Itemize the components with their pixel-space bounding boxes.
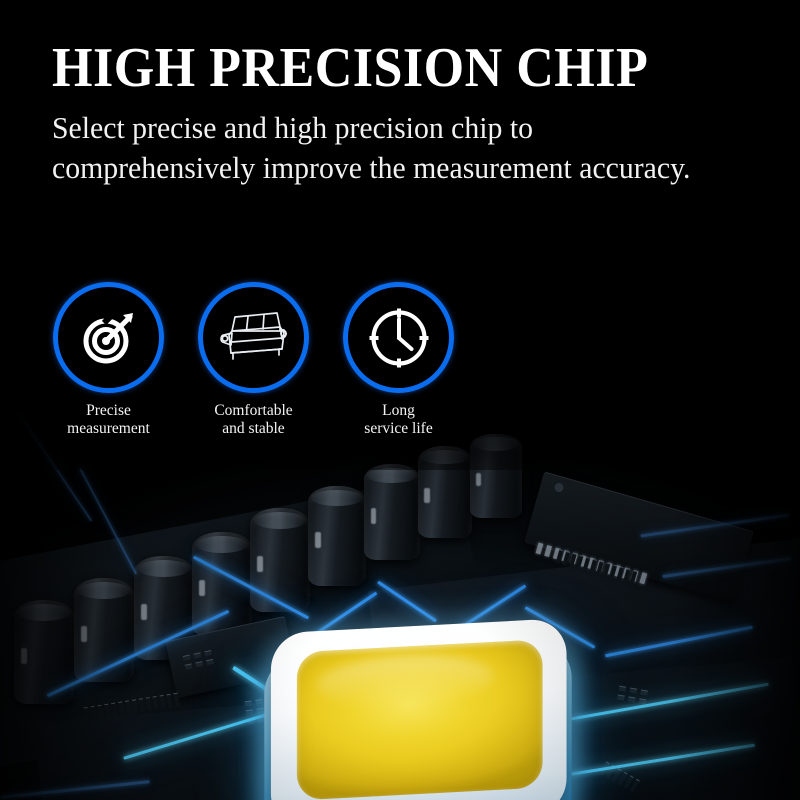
capacitor — [364, 464, 420, 560]
feature-item-long-service-life[interactable]: Long service life — [343, 282, 454, 439]
target-bullseye-icon — [78, 307, 140, 369]
clock-icon — [366, 305, 432, 371]
chip-gold-die — [297, 639, 543, 800]
page-title: HIGH PRECISION CHIP — [52, 40, 648, 96]
golden-chip — [251, 610, 584, 800]
feature-list: Precise measurement — [53, 282, 454, 439]
feature-icon-ring[interactable] — [53, 282, 164, 393]
product-feature-banner: HIGH PRECISION CHIP Select precise and h… — [0, 0, 800, 800]
feature-item-comfortable-and-stable[interactable]: Comfortable and stable — [198, 282, 309, 439]
feature-label: Comfortable and stable — [198, 402, 309, 439]
feature-icon-ring[interactable] — [343, 282, 454, 393]
feature-label: Long service life — [343, 402, 454, 439]
page-subtitle: Select precise and high precision chip t… — [52, 108, 739, 187]
feature-label: Precise measurement — [53, 402, 164, 439]
sofa-couch-icon — [219, 309, 289, 367]
feature-icon-ring[interactable] — [198, 282, 309, 393]
chip-white-bezel — [271, 618, 567, 800]
capacitor — [250, 508, 310, 612]
feature-item-precise-measurement[interactable]: Precise measurement — [53, 282, 164, 439]
ic-pin1-notch — [553, 482, 564, 493]
capacitor — [308, 486, 366, 586]
